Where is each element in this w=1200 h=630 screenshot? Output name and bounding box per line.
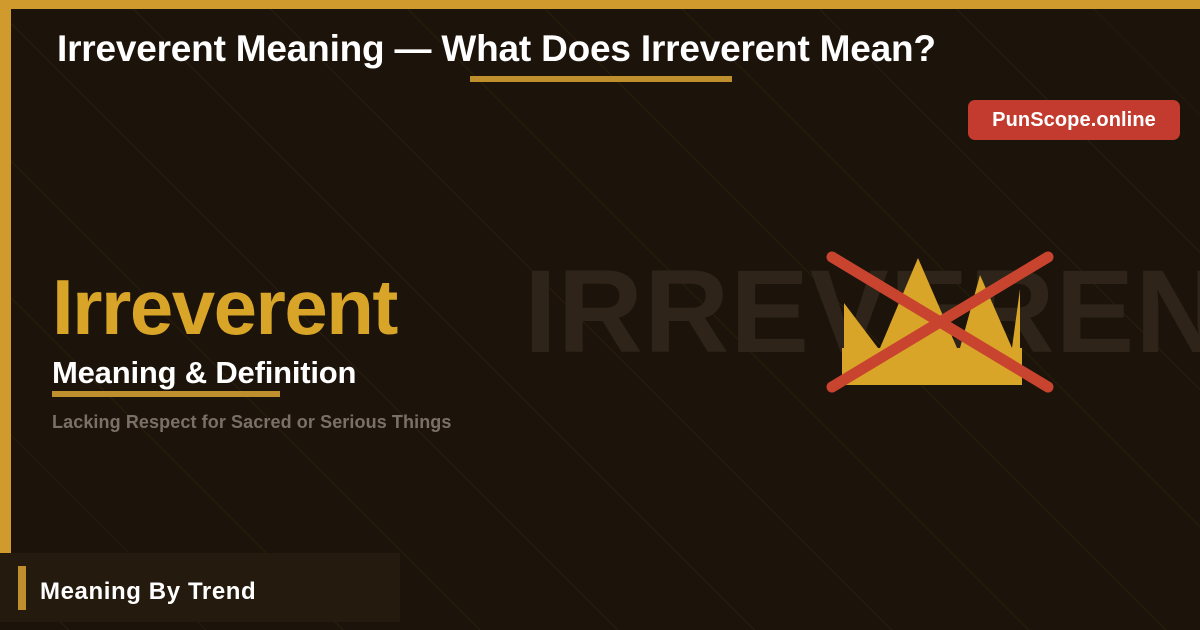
crossed-out-crown-icon — [820, 245, 1064, 395]
site-badge[interactable]: PunScope.online — [968, 100, 1180, 140]
footer-accent-bar — [18, 566, 26, 610]
term-tagline: Lacking Respect for Sacred or Serious Th… — [52, 412, 452, 433]
page-title: Irreverent Meaning — What Does Irreveren… — [57, 28, 1167, 70]
term-subheading: Meaning & Definition — [52, 355, 356, 391]
term-subheading-underline — [52, 391, 280, 397]
term-heading: Irreverent — [52, 268, 397, 346]
left-gold-rail — [0, 0, 11, 553]
social-card: IRREVERENT Irreverent Meaning — What Doe… — [0, 0, 1200, 630]
footer-brand-label: Meaning By Trend — [40, 578, 256, 606]
page-title-underline — [470, 76, 732, 82]
top-gold-rule — [0, 0, 1200, 9]
